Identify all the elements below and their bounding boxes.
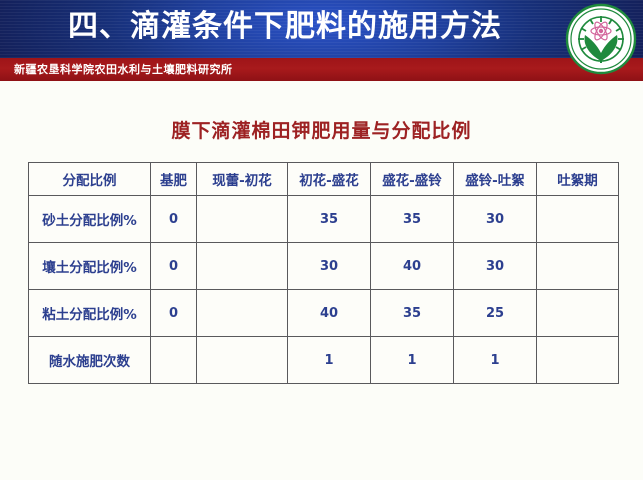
table-header-row: 分配比例 基肥 现蕾-初花 初花-盛花 盛花-盛铃 盛铃-吐絮 吐絮期 [29,163,619,196]
table-cell: 1 [371,337,454,384]
table-cell: 0 [151,196,197,243]
row-label: 粘土分配比例% [29,290,151,337]
table-cell: 0 [151,290,197,337]
column-header-full-bloom-to-full-boll: 盛花-盛铃 [371,163,454,196]
table-cell: 0 [151,243,197,290]
table-cell: 30 [288,243,371,290]
table-cell: 30 [454,243,537,290]
table-row: 粘土分配比例% 0 40 35 25 [29,290,619,337]
table-cell [197,196,288,243]
table-cell: 35 [371,196,454,243]
table-cell [151,337,197,384]
institute-name: 新疆农垦科学院农田水利与土壤肥料研究所 [14,60,233,79]
table-cell [537,196,619,243]
column-header-base-fertilizer: 基肥 [151,163,197,196]
row-label: 壤土分配比例% [29,243,151,290]
row-label: 随水施肥次数 [29,337,151,384]
column-header-squaring-to-first-flower: 现蕾-初花 [197,163,288,196]
table-cell [537,290,619,337]
table-title: 膜下滴灌棉田钾肥用量与分配比例 [0,116,643,143]
table-cell: 1 [288,337,371,384]
institute-logo-icon [565,3,637,75]
data-table-container: 分配比例 基肥 现蕾-初花 初花-盛花 盛花-盛铃 盛铃-吐絮 吐絮期 砂土分配… [28,162,618,384]
table-cell: 35 [371,290,454,337]
table-cell [537,337,619,384]
slide: 四、滴灌条件下肥料的施用方法 新疆农垦科学院农田水利与土壤肥料研究所 [0,0,643,480]
page-title: 四、滴灌条件下肥料的施用方法 [0,2,570,52]
institute-logo [565,3,637,75]
table-row: 砂土分配比例% 0 35 35 30 [29,196,619,243]
table-cell: 25 [454,290,537,337]
table-cell [197,243,288,290]
table-cell: 30 [454,196,537,243]
row-label: 砂土分配比例% [29,196,151,243]
column-header-full-boll-to-boll-opening: 盛铃-吐絮 [454,163,537,196]
table-cell: 1 [454,337,537,384]
table-row: 随水施肥次数 1 1 1 [29,337,619,384]
table-cell: 40 [288,290,371,337]
table-cell [537,243,619,290]
table-cell: 35 [288,196,371,243]
column-header-ratio: 分配比例 [29,163,151,196]
table-cell [197,290,288,337]
table-cell [197,337,288,384]
table-cell: 40 [371,243,454,290]
column-header-first-flower-to-full-bloom: 初花-盛花 [288,163,371,196]
fertilizer-distribution-table: 分配比例 基肥 现蕾-初花 初花-盛花 盛花-盛铃 盛铃-吐絮 吐絮期 砂土分配… [28,162,619,384]
column-header-boll-opening-stage: 吐絮期 [537,163,619,196]
table-row: 壤土分配比例% 0 30 40 30 [29,243,619,290]
